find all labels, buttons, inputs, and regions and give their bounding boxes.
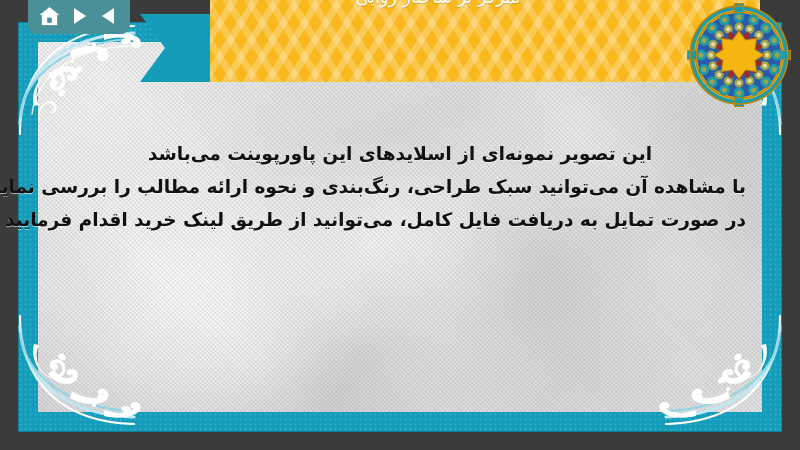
navigation-toolbar: [28, 0, 130, 34]
slide-viewer: کامل بررسی زندگی‌نامه خودنوشت یکی از شخص…: [0, 0, 800, 450]
back-button[interactable]: [96, 3, 122, 29]
forward-button[interactable]: [66, 3, 92, 29]
banner-body: [210, 0, 760, 82]
back-arrow-icon: [98, 5, 120, 27]
home-icon: [38, 5, 61, 28]
banner-chevron-pattern: [210, 0, 760, 82]
forward-arrow-icon: [68, 5, 90, 27]
body-line-3: در صورت تمایل به دریافت فایل کامل، می‌تو…: [54, 204, 746, 237]
page-title: کامل بررسی زندگی‌نامه خودنوشت یکی از شخص…: [150, 0, 726, 12]
slide-body-text: این تصویر نمونه‌ای از اسلایدهای این پاور…: [54, 138, 746, 237]
banner-tail-shape: [140, 14, 218, 82]
slide-title-banner: کامل بررسی زندگی‌نامه خودنوشت یکی از شخص…: [140, 0, 760, 98]
home-button[interactable]: [36, 3, 62, 29]
banner-chevron-pattern-2: [210, 0, 760, 82]
body-line-1: این تصویر نمونه‌ای از اسلایدهای این پاور…: [54, 138, 746, 171]
body-line-2: با مشاهده آن می‌توانید سبک طراحی، رنگ‌بن…: [54, 171, 746, 204]
